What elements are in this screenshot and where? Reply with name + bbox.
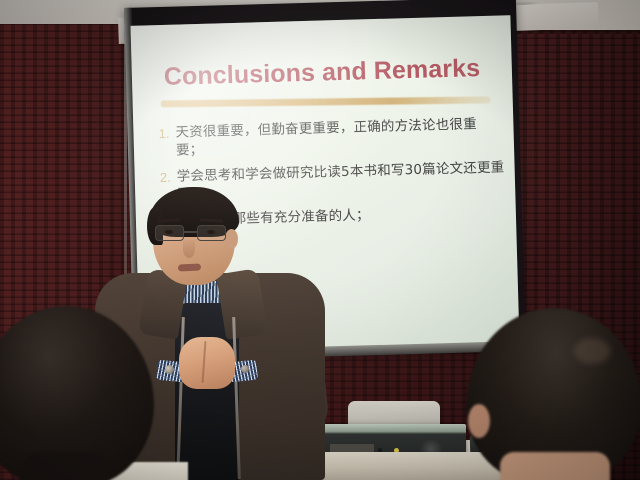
bullet-text: 天资很重要，但勤奋更重要，正确的方法论也很重要； [175,115,504,159]
bullet-number: 1. [153,125,175,143]
speaker-nose [183,240,195,258]
jacket-sleeve-button-right [241,365,249,373]
slide-bullet-item: 1. 天资很重要，但勤奋更重要，正确的方法论也很重要； [153,115,504,160]
eyeglasses-icon [153,225,235,241]
jacket-sleeve-button-left [165,365,174,374]
bullet-number: 2. [155,169,177,187]
eyeglass-bridge [184,231,197,233]
audience-right-ear [468,404,490,438]
speaker-mouth [178,263,201,271]
slide-title: Conclusions and Remarks [164,54,481,92]
speaker-eye-left [165,230,173,234]
audience-right-neck [500,452,610,480]
audience-left-neck [22,452,108,480]
photo-scene: Conclusions and Remarks 1. 天资很重要，但勤奋更重要，… [0,0,640,480]
audience-right-crown-highlight [574,338,610,364]
slide-title-underline [161,96,491,107]
speaker-clasped-hands [179,337,235,389]
speaker-eye-right [207,230,215,234]
